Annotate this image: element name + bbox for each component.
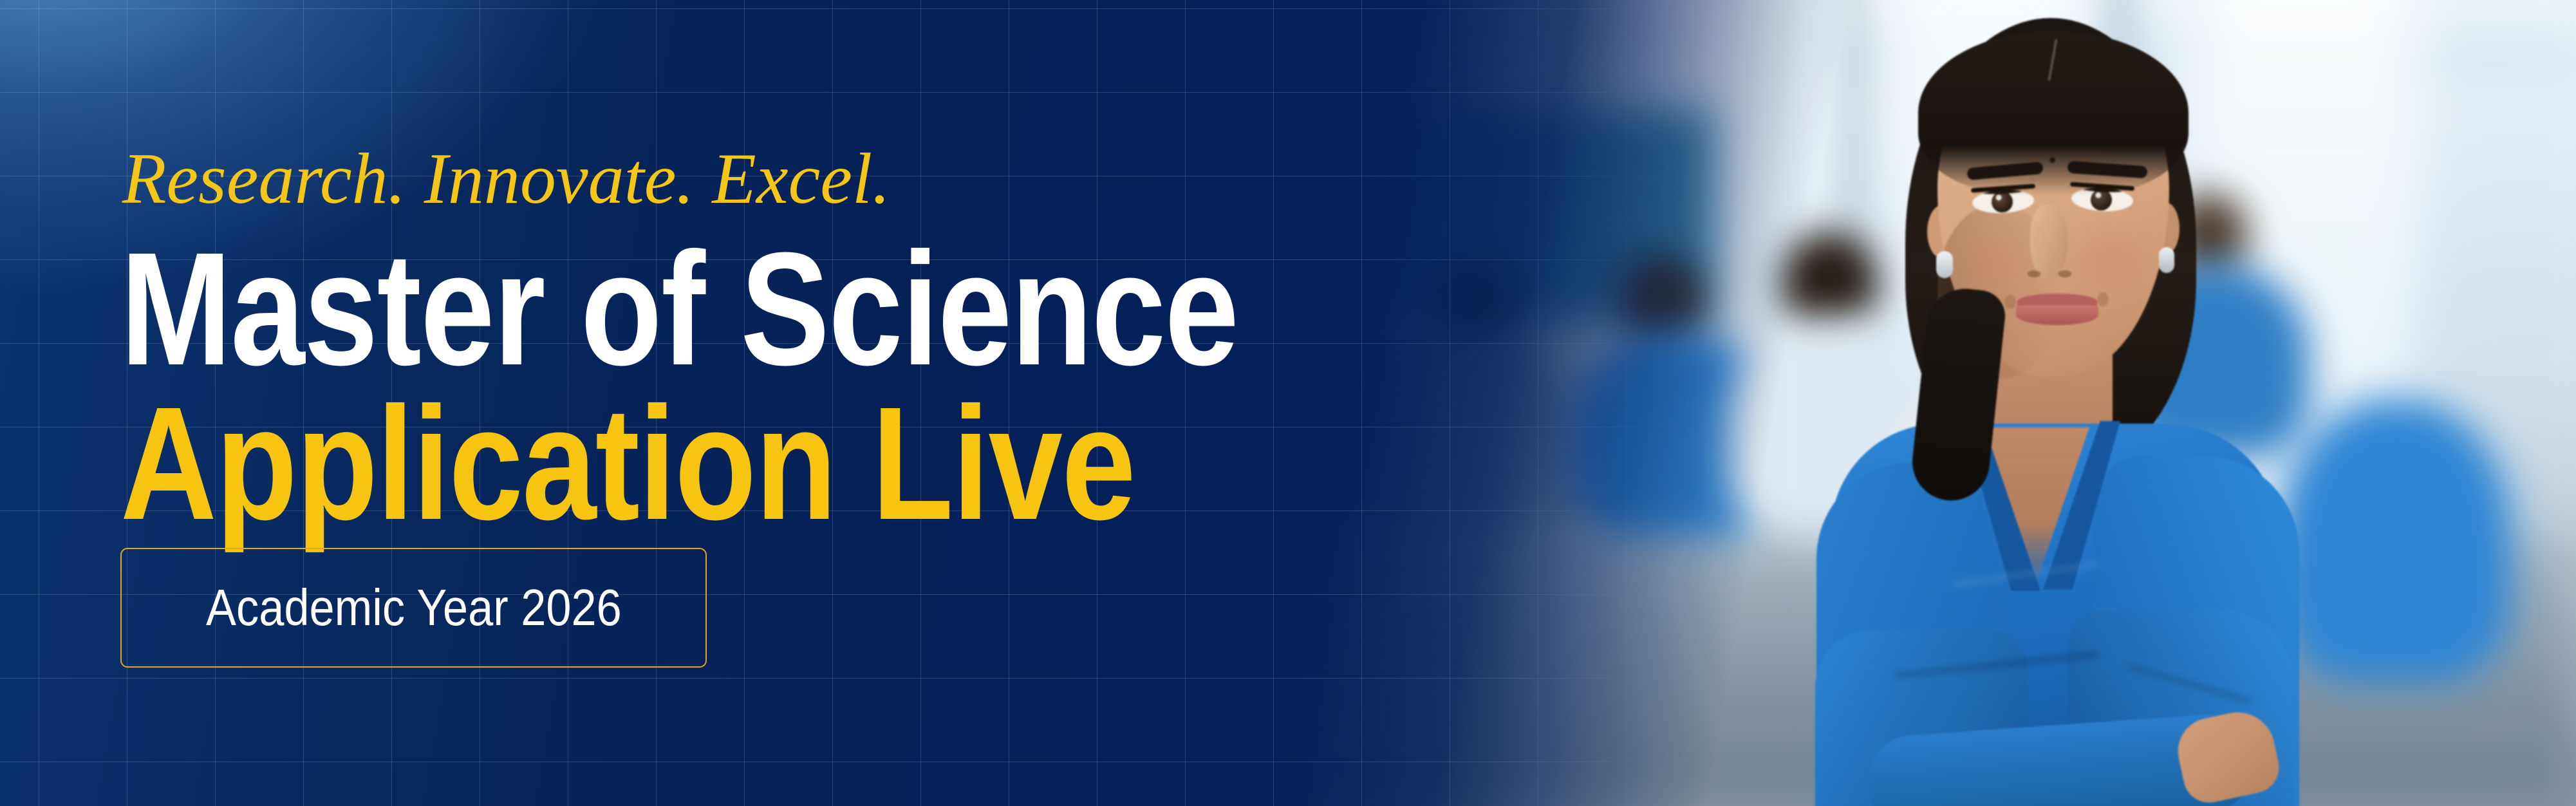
page-title: Master of Science Application Live: [120, 232, 1238, 541]
headline-line-2: Application Live: [120, 386, 1238, 541]
academic-year-badge[interactable]: Academic Year 2026: [120, 548, 707, 668]
banner-content: Research. Innovate. Excel. Master of Sci…: [120, 0, 1408, 806]
hero-banner: Research. Innovate. Excel. Master of Sci…: [0, 0, 2576, 806]
tagline: Research. Innovate. Excel.: [122, 143, 890, 215]
headline-line-1: Master of Science: [120, 232, 1238, 386]
academic-year-badge-label: Academic Year 2026: [206, 578, 622, 637]
